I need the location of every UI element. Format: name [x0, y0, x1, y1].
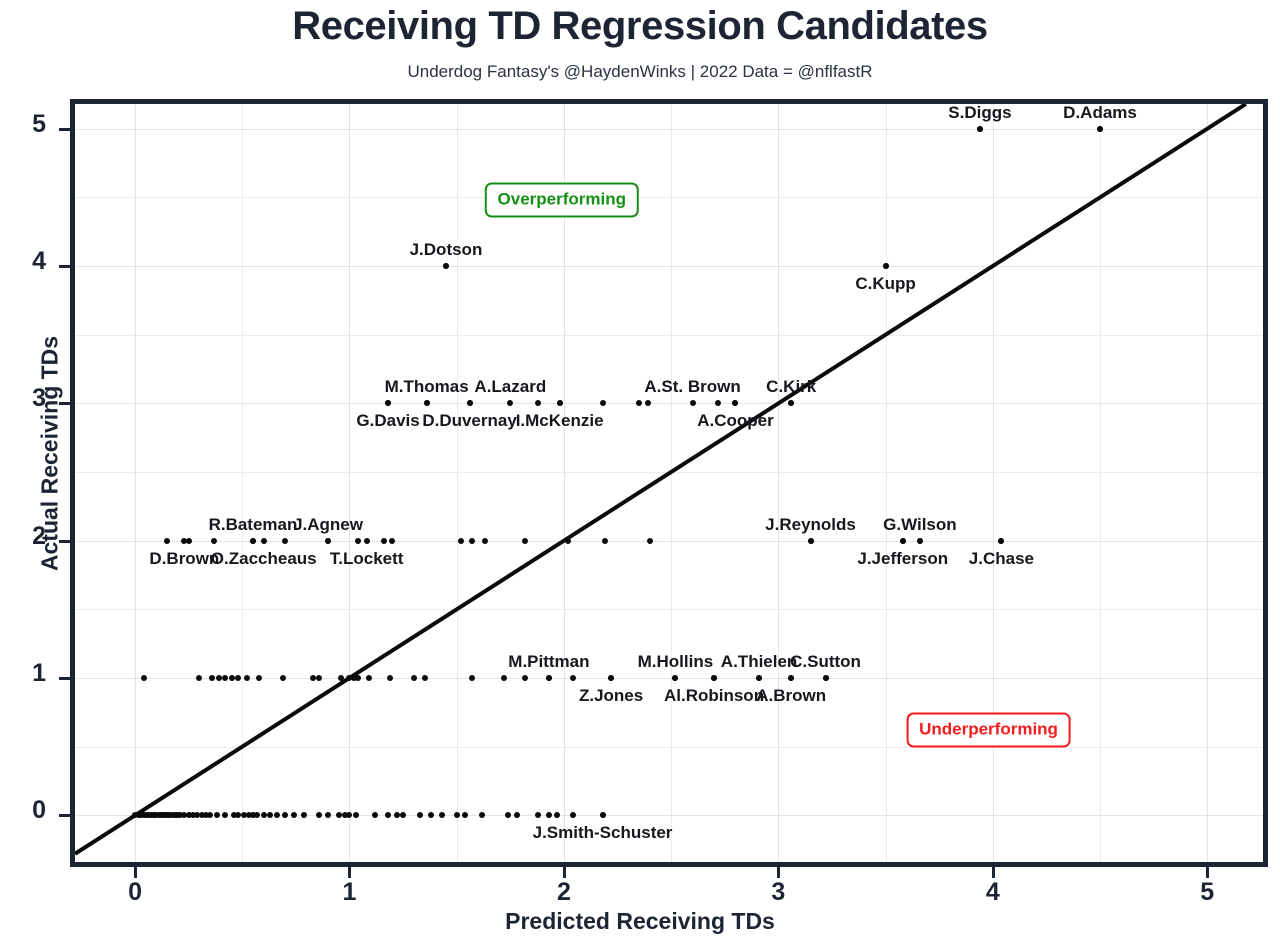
y-axis-tick — [59, 265, 70, 268]
scatter-point — [469, 538, 475, 544]
point-label: R.Bateman — [209, 515, 298, 535]
point-label: D.Duvernay — [422, 411, 516, 431]
scatter-point — [645, 400, 651, 406]
scatter-point — [229, 675, 235, 681]
scatter-point-labeled — [977, 126, 983, 132]
identity-reference-line — [75, 104, 1263, 862]
point-label: O.Zaccheaus — [211, 549, 317, 569]
point-label: G.Davis — [356, 411, 419, 431]
x-axis-tick-label: 5 — [1177, 878, 1237, 907]
scatter-point — [600, 400, 606, 406]
point-label: Z.Jones — [579, 686, 643, 706]
scatter-point — [570, 675, 576, 681]
chart-subtitle: Underdog Fantasy's @HaydenWinks | 2022 D… — [0, 62, 1280, 82]
scatter-point-labeled — [883, 263, 889, 269]
scatter-point-labeled — [364, 538, 370, 544]
plot-area: S.DiggsD.AdamsJ.DotsonC.KuppM.ThomasA.La… — [70, 99, 1268, 867]
scatter-point — [394, 812, 400, 818]
scatter-point — [164, 538, 170, 544]
x-axis-tick-label: 1 — [319, 878, 379, 907]
scatter-point-labeled — [546, 675, 552, 681]
point-label: A.Thielen — [721, 652, 798, 672]
point-label: A.Cooper — [697, 411, 774, 431]
scatter-point — [439, 812, 445, 818]
scatter-point — [261, 812, 267, 818]
y-axis-tick — [59, 128, 70, 131]
scatter-point — [454, 812, 460, 818]
scatter-point — [458, 538, 464, 544]
scatter-point-labeled — [250, 538, 256, 544]
y-axis-tick-label: 2 — [0, 522, 46, 551]
scatter-point — [141, 675, 147, 681]
point-label: C.Kirk — [766, 377, 816, 397]
y-axis-tick-label: 1 — [0, 659, 46, 688]
chart-page: Receiving TD Regression Candidates Under… — [0, 0, 1280, 952]
point-label: M.Hollins — [638, 652, 714, 672]
point-label: D.Adams — [1063, 104, 1137, 123]
point-label: C.Kupp — [855, 274, 915, 294]
point-label: J.Jefferson — [857, 549, 948, 569]
scatter-point — [522, 538, 528, 544]
scatter-point-labeled — [261, 538, 267, 544]
x-axis-title: Predicted Receiving TDs — [0, 908, 1280, 935]
x-axis-tick — [348, 867, 351, 878]
scatter-point — [482, 538, 488, 544]
y-axis-tick — [59, 540, 70, 543]
y-axis-tick — [59, 677, 70, 680]
scatter-point-labeled — [443, 263, 449, 269]
point-label: I.McKenzie — [516, 411, 604, 431]
y-axis-tick-label: 4 — [0, 247, 46, 276]
point-label: S.Diggs — [948, 104, 1011, 123]
point-label: D.Brown — [149, 549, 219, 569]
annotation-badge-underperforming: Underperforming — [906, 713, 1071, 748]
x-axis-tick-label: 0 — [105, 878, 165, 907]
scatter-point-labeled — [1097, 126, 1103, 132]
scatter-point — [282, 538, 288, 544]
scatter-point-labeled — [325, 538, 331, 544]
x-axis-tick — [134, 867, 137, 878]
scatter-point — [355, 538, 361, 544]
scatter-point-labeled — [690, 400, 696, 406]
x-axis-tick-label: 3 — [748, 878, 808, 907]
point-label: J.Smith-Schuster — [533, 823, 673, 843]
chart-title: Receiving TD Regression Candidates — [0, 4, 1280, 49]
scatter-point — [501, 675, 507, 681]
scatter-point-labeled — [557, 400, 563, 406]
scatter-point — [244, 675, 250, 681]
scatter-point — [338, 675, 344, 681]
y-axis-tick — [59, 814, 70, 817]
scatter-point-labeled — [900, 538, 906, 544]
scatter-point — [570, 812, 576, 818]
scatter-point — [310, 675, 316, 681]
point-label: A.Lazard — [474, 377, 546, 397]
scatter-point — [355, 675, 361, 681]
x-axis-tick — [1206, 867, 1209, 878]
scatter-point — [602, 538, 608, 544]
scatter-point — [235, 675, 241, 681]
scatter-point — [469, 675, 475, 681]
scatter-point — [366, 675, 372, 681]
point-label: G.Wilson — [883, 515, 957, 535]
scatter-point-labeled — [711, 675, 717, 681]
scatter-point — [422, 675, 428, 681]
scatter-point-labeled — [467, 400, 473, 406]
point-label: A.St. Brown — [644, 377, 740, 397]
x-axis-tick — [777, 867, 780, 878]
y-axis-tick-label: 5 — [0, 110, 46, 139]
y-axis-title: Actual Receiving TDs — [37, 74, 64, 834]
point-label: T.Lockett — [330, 549, 404, 569]
y-axis-tick — [59, 402, 70, 405]
y-axis-tick-label: 0 — [0, 796, 46, 825]
scatter-point — [274, 812, 280, 818]
x-axis-tick-label: 4 — [963, 878, 1023, 907]
y-axis-tick-label: 3 — [0, 384, 46, 413]
scatter-point — [381, 538, 387, 544]
scatter-point-labeled — [756, 675, 762, 681]
scatter-point — [647, 538, 653, 544]
scatter-point — [214, 812, 220, 818]
point-label: J.Chase — [969, 549, 1034, 569]
plot-inner: S.DiggsD.AdamsJ.DotsonC.KuppM.ThomasA.La… — [75, 104, 1263, 862]
point-label: J.Reynolds — [765, 515, 856, 535]
x-axis-tick — [563, 867, 566, 878]
x-axis-tick — [992, 867, 995, 878]
scatter-point-labeled — [600, 812, 606, 818]
scatter-point-labeled — [823, 675, 829, 681]
scatter-point — [565, 538, 571, 544]
scatter-point-labeled — [917, 538, 923, 544]
scatter-point — [280, 675, 286, 681]
point-label: A.Brown — [756, 686, 826, 706]
point-label: Al.Robinson — [664, 686, 764, 706]
scatter-point-labeled — [808, 538, 814, 544]
annotation-badge-overperforming: Overperforming — [485, 183, 639, 218]
point-label: M.Thomas — [385, 377, 469, 397]
point-label: J.Agnew — [293, 515, 363, 535]
point-label: M.Pittman — [508, 652, 589, 672]
scatter-point — [216, 675, 222, 681]
point-label: J.Dotson — [410, 240, 483, 260]
scatter-point — [411, 675, 417, 681]
point-label: C.Sutton — [790, 652, 861, 672]
x-axis-tick-label: 2 — [534, 878, 594, 907]
